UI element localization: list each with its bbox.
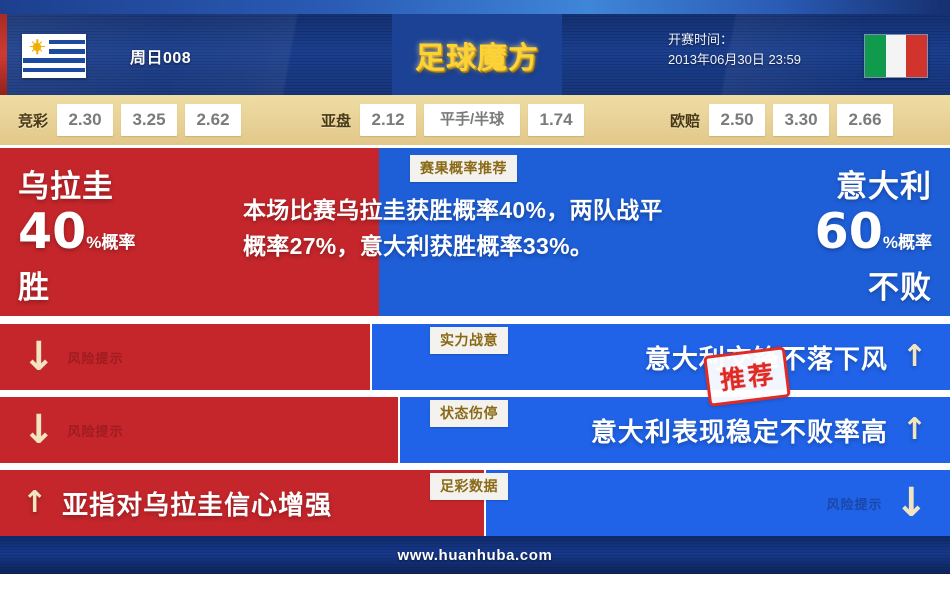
insight-row-2-label: 意大利表现稳定不败率高 bbox=[591, 412, 888, 449]
away-probability-line: 60%概率 bbox=[815, 206, 932, 270]
kickoff-time: 开赛时间： 2013年06月30日 23:59 bbox=[668, 30, 801, 70]
tag-result-probability: 赛果概率推荐 bbox=[410, 155, 517, 182]
up-arrow-icon: ↑ bbox=[22, 488, 48, 518]
odds-title-jingcai: 竞彩 bbox=[18, 110, 48, 131]
odds-title-euro: 欧赔 bbox=[670, 110, 700, 131]
italy-flag-icon bbox=[864, 34, 928, 78]
away-probability-suffix: %概率 bbox=[883, 233, 932, 252]
site-logo-text: 足球魔方 bbox=[415, 33, 539, 77]
odds-euro-draw[interactable]: 3.30 bbox=[773, 104, 829, 136]
insight-row-2-text: 意大利表现稳定不败率高 ↑ bbox=[591, 397, 928, 463]
odds-jingcai-draw[interactable]: 3.25 bbox=[121, 104, 177, 136]
home-probability-value: 40 bbox=[18, 203, 86, 260]
down-arrow-icon: ↓ bbox=[22, 410, 56, 450]
up-arrow-icon: ↑ bbox=[902, 415, 928, 445]
odds-title-asian: 亚盘 bbox=[321, 110, 351, 131]
probability-summary-text: 本场比赛乌拉圭获胜概率40%，两队战平概率27%，意大利获胜概率33%。 bbox=[243, 192, 675, 264]
top-gradient-strip bbox=[0, 0, 950, 14]
bottom-padding bbox=[0, 574, 950, 594]
down-arrow-icon: ↓ bbox=[22, 337, 56, 377]
odds-asian-home[interactable]: 2.12 bbox=[360, 104, 416, 136]
odds-jingcai-away[interactable]: 2.62 bbox=[185, 104, 241, 136]
odds-asian-handicap[interactable]: 平手/半球 bbox=[424, 104, 520, 136]
away-predicted-result: 不败 bbox=[815, 270, 932, 306]
odds-group-asian: 亚盘 2.12 平手/半球 1.74 bbox=[321, 104, 592, 136]
insight-row-2-risk-note: ↓ 风险提示 bbox=[22, 397, 124, 463]
home-probability-suffix: %概率 bbox=[86, 233, 135, 252]
odds-group-euro: 欧赔 2.50 3.30 2.66 bbox=[670, 104, 901, 136]
insight-row-3-label: 亚指对乌拉圭信心增强 bbox=[62, 485, 332, 522]
risk-label: 风险提示 bbox=[826, 494, 882, 513]
odds-jingcai-home[interactable]: 2.30 bbox=[57, 104, 113, 136]
home-probability-line: 40%概率 bbox=[18, 206, 135, 270]
risk-label: 风险提示 bbox=[68, 348, 124, 367]
insight-row-3-risk-note: 风险提示 ↓ bbox=[826, 470, 928, 536]
footer-bar: www.huanhuba.com bbox=[0, 536, 950, 574]
footer-website-url[interactable]: www.huanhuba.com bbox=[398, 547, 553, 564]
odds-euro-home[interactable]: 2.50 bbox=[709, 104, 765, 136]
match-prediction-poster: 周日008 足球魔方 开赛时间： 2013年06月30日 23:59 竞彩 2.… bbox=[0, 0, 950, 594]
away-probability-value: 60 bbox=[815, 203, 883, 260]
home-predicted-result: 胜 bbox=[18, 270, 135, 306]
home-team-name: 乌拉圭 bbox=[18, 168, 135, 206]
round-label: 周日008 bbox=[130, 44, 191, 68]
insight-row-3-text: ↑ 亚指对乌拉圭信心增强 bbox=[22, 470, 332, 536]
odds-euro-away[interactable]: 2.66 bbox=[837, 104, 893, 136]
sun-of-may-icon bbox=[31, 41, 43, 53]
up-arrow-icon: ↑ bbox=[902, 342, 928, 372]
insight-row-1-risk-note: ↓ 风险提示 bbox=[22, 324, 124, 390]
recommend-stamp: 推荐 bbox=[703, 346, 791, 407]
away-team-summary: 意大利 60%概率 不败 bbox=[815, 168, 932, 306]
odds-bar: 竞彩 2.30 3.25 2.62 亚盘 2.12 平手/半球 1.74 欧赔 … bbox=[0, 95, 950, 145]
header-red-accent-bar bbox=[0, 14, 7, 95]
tag-betting-data: 足彩数据 bbox=[430, 473, 508, 500]
odds-asian-away[interactable]: 1.74 bbox=[528, 104, 584, 136]
down-arrow-icon: ↓ bbox=[894, 483, 928, 523]
tag-form-injury: 状态伤停 bbox=[430, 400, 508, 427]
kickoff-label: 开赛时间： bbox=[668, 30, 801, 50]
away-team-name: 意大利 bbox=[815, 168, 932, 206]
uruguay-flag-icon bbox=[22, 34, 86, 78]
home-team-summary: 乌拉圭 40%概率 胜 bbox=[18, 168, 135, 306]
odds-group-jingcai: 竞彩 2.30 3.25 2.62 bbox=[18, 104, 249, 136]
kickoff-value: 2013年06月30日 23:59 bbox=[668, 50, 801, 70]
risk-label: 风险提示 bbox=[68, 421, 124, 440]
site-logo[interactable]: 足球魔方 bbox=[392, 14, 562, 95]
tag-strength-intent: 实力战意 bbox=[430, 327, 508, 354]
